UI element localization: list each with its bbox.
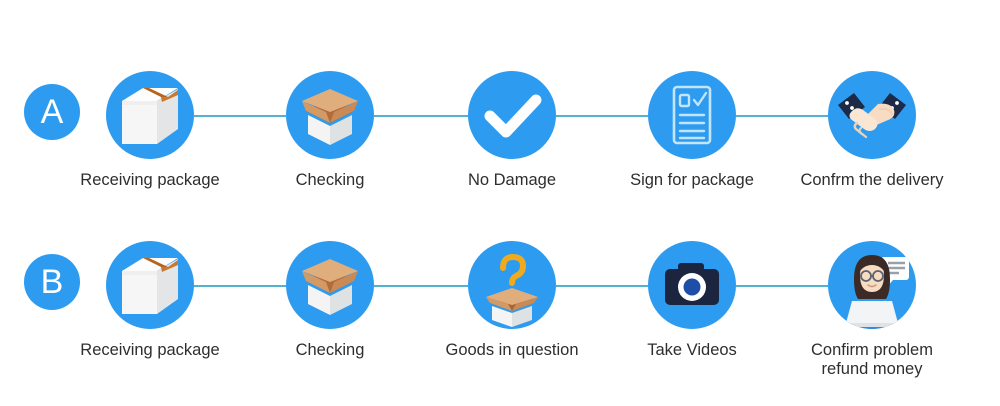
delivery-process-infographic: A Receiving package	[0, 0, 1000, 406]
step-label: Sign for package	[612, 171, 772, 190]
step-label: Take Videos	[612, 341, 772, 360]
camera-icon	[648, 241, 736, 329]
closed-box-icon	[106, 241, 194, 329]
step-label: No Damage	[432, 171, 592, 190]
step-a-receiving-package[interactable]: Receiving package	[70, 48, 230, 190]
step-label: Confirm problem refund money	[792, 341, 952, 379]
question-box-icon	[468, 241, 556, 329]
check-mark-icon	[468, 71, 556, 159]
step-a-confirm-delivery[interactable]: Confrm the delivery	[792, 48, 952, 190]
step-b-confirm-refund[interactable]: Confirm problem refund money	[792, 218, 952, 379]
step-b-checking[interactable]: Checking	[250, 218, 410, 360]
closed-box-icon	[106, 71, 194, 159]
signed-document-icon	[648, 71, 736, 159]
open-box-icon	[286, 71, 374, 159]
step-a-no-damage[interactable]: No Damage	[432, 48, 592, 190]
step-b-goods-in-question[interactable]: Goods in question	[432, 218, 592, 360]
process-row-a: A Receiving package	[0, 48, 1000, 208]
step-label: Receiving package	[70, 341, 230, 360]
step-b-receiving-package[interactable]: Receiving package	[70, 218, 230, 360]
step-label: Checking	[250, 341, 410, 360]
step-b-take-videos[interactable]: Take Videos	[612, 218, 772, 360]
step-a-sign-for-package[interactable]: Sign for package	[612, 48, 772, 190]
handshake-icon	[828, 71, 916, 159]
customer-service-icon	[828, 241, 916, 329]
process-row-b: B Receiving package	[0, 218, 1000, 378]
open-box-icon	[286, 241, 374, 329]
step-label: Confrm the delivery	[792, 171, 952, 190]
step-label: Receiving package	[70, 171, 230, 190]
step-label: Goods in question	[432, 341, 592, 360]
step-a-checking[interactable]: Checking	[250, 48, 410, 190]
step-label: Checking	[250, 171, 410, 190]
